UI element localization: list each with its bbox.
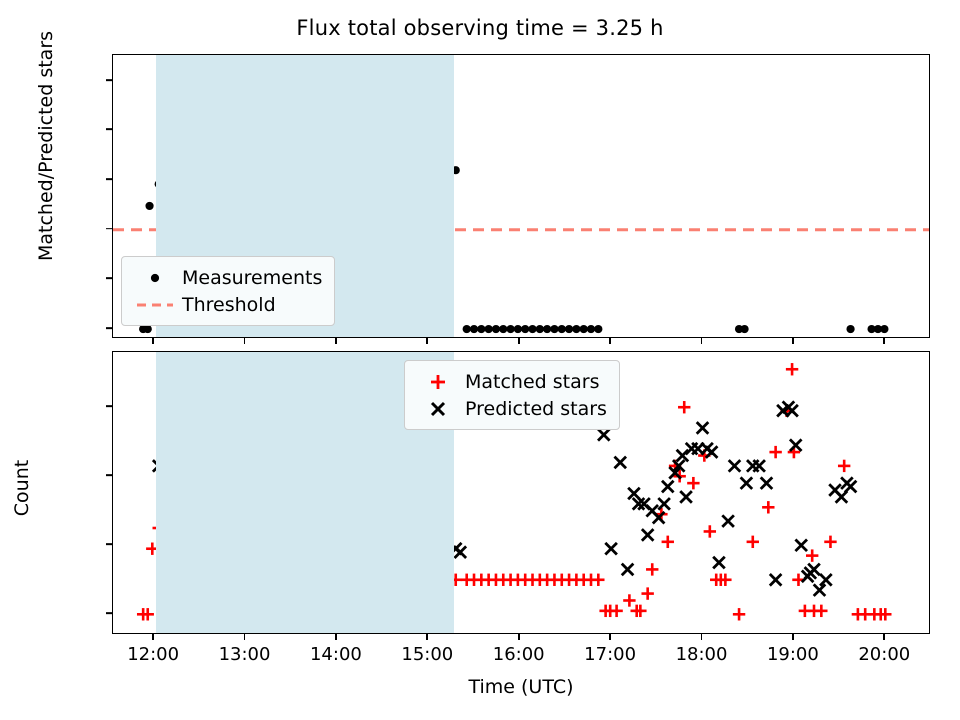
y-tick-top-mark bbox=[106, 278, 112, 280]
matched-star-point bbox=[824, 536, 836, 548]
x-tick-top-mark bbox=[518, 338, 520, 344]
y-tick-top-mark bbox=[106, 129, 112, 131]
predicted-star-point bbox=[795, 539, 807, 551]
predicted-star-point bbox=[722, 515, 734, 527]
x-axis-label: Time (UTC) bbox=[112, 676, 930, 698]
predicted-star-point bbox=[605, 543, 617, 555]
y-axis-label-top: Matched/Predicted stars bbox=[35, 0, 57, 296]
y-tick-top-mark bbox=[106, 228, 112, 230]
x-tick-top-mark bbox=[244, 338, 246, 344]
predicted-star-point bbox=[642, 529, 654, 541]
matched-star-point bbox=[592, 574, 604, 586]
x-tick-bottom-label: 17:00 bbox=[584, 644, 636, 665]
measurement-point-zero bbox=[846, 325, 854, 333]
predicted-star-point bbox=[741, 477, 753, 489]
matched-star-point bbox=[687, 477, 699, 489]
matched-star-point bbox=[610, 605, 622, 617]
measurement-point-zero bbox=[550, 325, 558, 333]
measurement-point-zero bbox=[463, 325, 471, 333]
dot-marker-icon bbox=[132, 268, 178, 288]
predicted-star-point bbox=[680, 491, 692, 503]
legend-label: Threshold bbox=[178, 294, 276, 316]
legend-top: MeasurementsThreshold bbox=[121, 256, 335, 326]
y-tick-bottom-mark bbox=[106, 474, 112, 476]
matched-star-point bbox=[762, 501, 774, 513]
predicted-star-point bbox=[706, 446, 718, 458]
predicted-star-point bbox=[614, 457, 626, 469]
predicted-star-point bbox=[697, 422, 709, 434]
x-tick-top-mark bbox=[792, 338, 794, 344]
measurement-point-zero bbox=[880, 325, 888, 333]
y-tick-bottom-mark bbox=[106, 543, 112, 545]
predicted-star-point bbox=[845, 481, 857, 493]
y-tick-bottom-mark bbox=[106, 405, 112, 407]
matched-star-point bbox=[769, 446, 781, 458]
predicted-star-point bbox=[729, 460, 741, 472]
matched-star-point bbox=[646, 563, 658, 575]
legend-entry: Predicted stars bbox=[415, 395, 607, 422]
y-axis-label-bottom: Count bbox=[11, 398, 33, 578]
x-tick-bottom-mark bbox=[883, 634, 885, 640]
x-tick-bottom-mark bbox=[335, 634, 337, 640]
matched-star-point bbox=[678, 401, 690, 413]
matched-star-point bbox=[747, 536, 759, 548]
measurement-point-zero bbox=[492, 325, 500, 333]
x-tick-bottom-mark bbox=[701, 634, 703, 640]
predicted-star-point bbox=[790, 439, 802, 451]
legend-label: Matched stars bbox=[461, 371, 599, 393]
measurement-point-zero bbox=[740, 325, 748, 333]
page-title: Flux total observing time = 3.25 h bbox=[0, 16, 960, 40]
legend-entry: Matched stars bbox=[415, 368, 607, 395]
measurement-point bbox=[145, 202, 153, 210]
measurement-point-zero bbox=[543, 325, 551, 333]
predicted-star-point bbox=[662, 481, 674, 493]
matched-star-point bbox=[641, 587, 653, 599]
legend-label: Measurements bbox=[178, 267, 322, 289]
y-tick-bottom-mark bbox=[106, 612, 112, 614]
y-tick-top-mark bbox=[106, 178, 112, 180]
x-tick-bottom-mark bbox=[426, 634, 428, 640]
y-tick-top-mark bbox=[106, 79, 112, 81]
predicted-star-point bbox=[770, 574, 782, 586]
x-tick-top-mark bbox=[152, 338, 154, 344]
measurement-point-zero bbox=[521, 325, 529, 333]
predicted-star-point bbox=[753, 460, 765, 472]
measurement-point-zero bbox=[514, 325, 522, 333]
matched-star-point bbox=[806, 549, 818, 561]
x-tick-top-mark bbox=[335, 338, 337, 344]
x-tick-bottom-label: 19:00 bbox=[767, 644, 819, 665]
predicted-star-point bbox=[598, 429, 610, 441]
x-tick-top-mark bbox=[701, 338, 703, 344]
x-tick-bottom-label: 15:00 bbox=[401, 644, 453, 665]
predicted-star-point bbox=[677, 450, 689, 462]
measurement-point-zero bbox=[594, 325, 602, 333]
x-tick-bottom-mark bbox=[792, 634, 794, 640]
x-tick-bottom-label: 16:00 bbox=[493, 644, 545, 665]
predicted-star-point bbox=[814, 584, 826, 596]
x-tick-bottom-label: 18:00 bbox=[676, 644, 728, 665]
legend-entry: Threshold bbox=[132, 291, 322, 318]
x-tick-top-mark bbox=[426, 338, 428, 344]
x-tick-bottom-mark bbox=[244, 634, 246, 640]
matched-star-point bbox=[838, 460, 850, 472]
figure-root: Flux total observing time = 3.25 h Match… bbox=[0, 0, 960, 720]
matched-star-point bbox=[662, 536, 674, 548]
measurement-point-zero bbox=[499, 325, 507, 333]
cross-marker-icon bbox=[415, 399, 461, 419]
x-tick-bottom-label: 13:00 bbox=[219, 644, 271, 665]
measurement-point-zero bbox=[477, 325, 485, 333]
x-tick-bottom-label: 12:00 bbox=[127, 644, 179, 665]
matched-star-point bbox=[786, 363, 798, 375]
measurement-point-zero bbox=[506, 325, 514, 333]
predicted-star-point bbox=[622, 564, 634, 576]
measurement-point-zero bbox=[528, 325, 536, 333]
x-tick-bottom-mark bbox=[152, 634, 154, 640]
measurement-point-zero bbox=[144, 325, 152, 333]
y-tick-top-mark bbox=[106, 327, 112, 329]
legend-bottom: Matched starsPredicted stars bbox=[404, 360, 620, 430]
matched-star-point bbox=[623, 594, 635, 606]
measurement-point-zero bbox=[470, 325, 478, 333]
predicted-star-point bbox=[820, 574, 832, 586]
x-tick-bottom-mark bbox=[518, 634, 520, 640]
dashed-marker-icon bbox=[132, 295, 178, 315]
plus-marker-icon bbox=[415, 372, 461, 392]
measurement-point-zero bbox=[565, 325, 573, 333]
measurement-point-zero bbox=[485, 325, 493, 333]
matched-star-point bbox=[733, 608, 745, 620]
legend-entry: Measurements bbox=[132, 264, 322, 291]
predicted-star-point bbox=[658, 498, 670, 510]
matched-star-point bbox=[704, 525, 716, 537]
predicted-star-point bbox=[455, 546, 467, 558]
x-tick-top-mark bbox=[883, 338, 885, 344]
matched-star-point bbox=[815, 605, 827, 617]
measurement-point-zero bbox=[580, 325, 588, 333]
x-tick-bottom-label: 20:00 bbox=[858, 644, 910, 665]
measurement-point-zero bbox=[536, 325, 544, 333]
predicted-star-point bbox=[761, 477, 773, 489]
legend-label: Predicted stars bbox=[461, 398, 607, 420]
measurement-point-zero bbox=[558, 325, 566, 333]
measurement-point-zero bbox=[587, 325, 595, 333]
x-tick-bottom-mark bbox=[609, 634, 611, 640]
x-tick-bottom-label: 14:00 bbox=[310, 644, 362, 665]
x-tick-top-mark bbox=[609, 338, 611, 344]
predicted-star-point bbox=[713, 557, 725, 569]
measurement-point-zero bbox=[572, 325, 580, 333]
predicted-star-point bbox=[808, 564, 820, 576]
